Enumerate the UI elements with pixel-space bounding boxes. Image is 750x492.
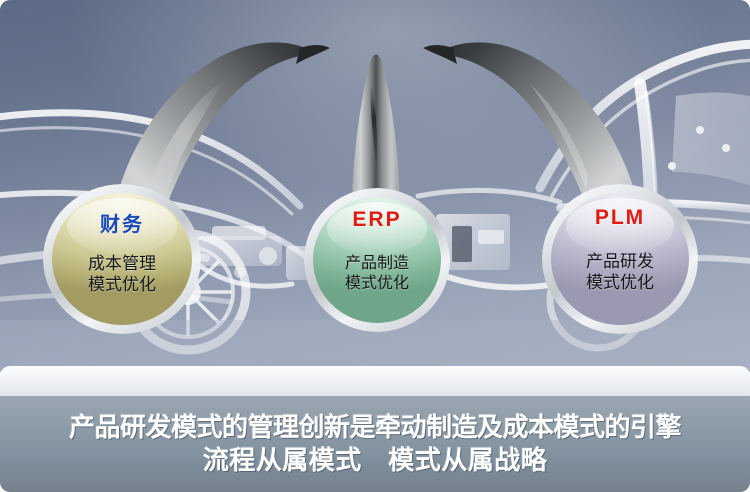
orb-erp-title: ERP	[304, 208, 450, 232]
orb-plm-body-line-1: 产品研发	[542, 252, 698, 273]
caption-line-2: 流程从属模式 模式从属战略	[203, 446, 548, 475]
caption-banner: 产品研发模式的管理创新是牵动制造及成本模式的引擎 流程从属模式 模式从属战略	[0, 396, 750, 492]
separator-band	[0, 366, 750, 399]
orb-plm-body-line-2: 模式优化	[542, 273, 698, 294]
orb-erp-body-line-1: 产品制造	[304, 254, 450, 274]
orb-plm[interactable]: PLM 产品研发 模式优化	[542, 184, 698, 334]
orb-plm-body: 产品研发 模式优化	[542, 252, 698, 293]
scene-background: 财务 成本管理 模式优化 ERP 产品制造 模式优化 PLM	[0, 0, 750, 372]
orb-finance-body-line-2: 模式优化	[43, 275, 201, 296]
orb-erp-body-line-2: 模式优化	[304, 274, 450, 294]
orb-erp-body: 产品制造 模式优化	[304, 254, 450, 293]
poster-canvas: 财务 成本管理 模式优化 ERP 产品制造 模式优化 PLM	[0, 0, 750, 492]
orb-finance[interactable]: 财务 成本管理 模式优化	[43, 184, 201, 334]
orb-erp[interactable]: ERP 产品制造 模式优化	[304, 188, 450, 332]
orb-finance-title: 财务	[43, 208, 201, 237]
orb-finance-body: 成本管理 模式优化	[43, 254, 201, 295]
orb-finance-body-line-1: 成本管理	[43, 254, 201, 275]
orb-plm-title: PLM	[542, 206, 698, 230]
caption-line-1: 产品研发模式的管理创新是牵动制造及成本模式的引擎	[69, 413, 681, 441]
